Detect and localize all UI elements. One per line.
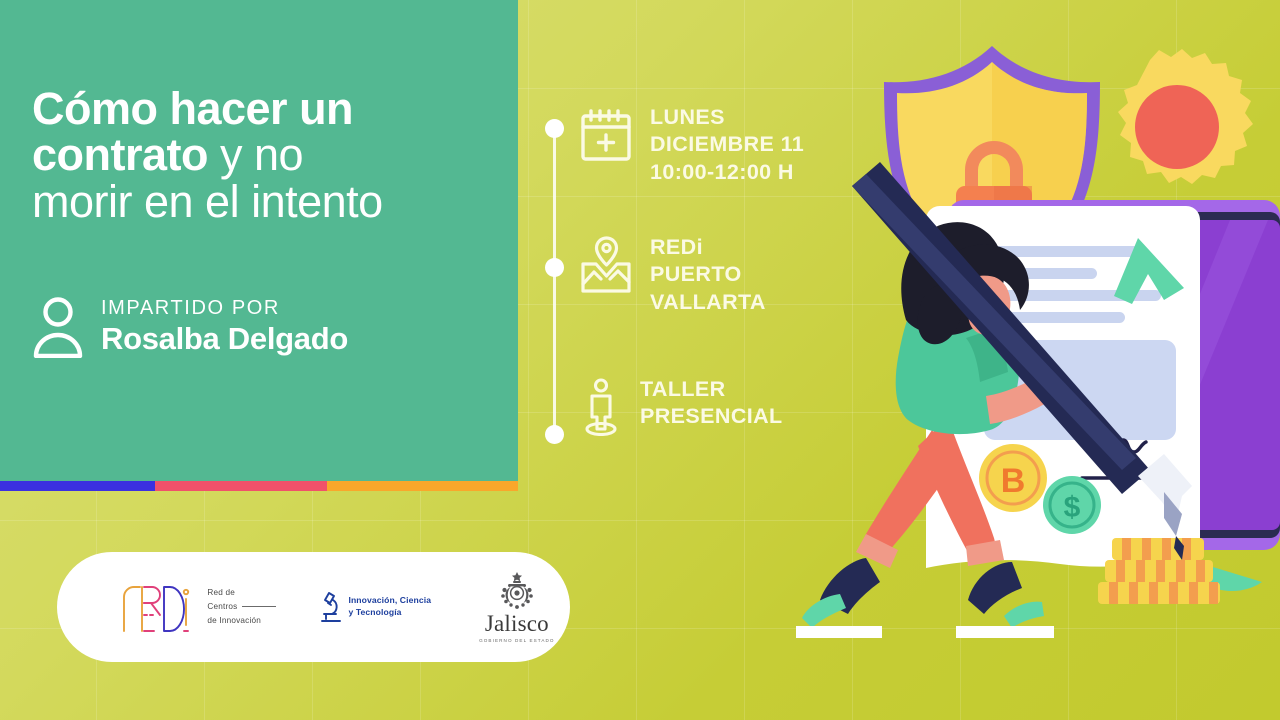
jalisco-subtitle: GOBIERNO DEL ESTADO — [479, 638, 555, 643]
title-line-2-rest: y no — [208, 129, 303, 180]
ict-line-2: y Tecnología — [348, 607, 431, 619]
detail-row-modality: TALLER PRESENCIAL — [580, 376, 783, 436]
bitcoin-coin: B — [979, 444, 1047, 512]
ict-wordmark: Innovación, Ciencia y Tecnología — [348, 595, 431, 618]
redi-logo: Red de Centros de Innovación — [120, 581, 276, 633]
redi-tagline-line-1: Red de — [207, 587, 276, 599]
title-line-2: contrato y no — [32, 132, 502, 178]
title-line-3: morir en el intento — [32, 179, 502, 225]
stripe-segment-orange — [327, 481, 518, 491]
map-location-icon — [580, 236, 632, 294]
person-standing-icon — [580, 378, 622, 436]
svg-text:$: $ — [1064, 491, 1081, 524]
detail-text-location: REDi PUERTO VALLARTA — [650, 234, 766, 316]
speaker-text: IMPARTIDO POR Rosalba Delgado — [101, 297, 348, 357]
redi-tagline-line-2: Centros — [207, 601, 237, 613]
redi-tagline-line-2-wrap: Centros — [207, 601, 276, 613]
contract-signing-illustration: B $ — [760, 0, 1280, 720]
redi-rule — [242, 606, 276, 607]
title-block: Cómo hacer un contrato y no morir en el … — [32, 86, 502, 225]
timeline-dot-1 — [545, 119, 564, 138]
accent-stripe — [0, 481, 518, 491]
timeline-dot-3 — [545, 425, 564, 444]
dollar-coin: $ — [1043, 476, 1101, 534]
speaker-block: IMPARTIDO POR Rosalba Delgado — [32, 296, 348, 358]
person-icon — [32, 296, 84, 358]
location-line-2: PUERTO — [650, 261, 766, 288]
poster-canvas: Cómo hacer un contrato y no morir en el … — [0, 0, 1280, 720]
ict-line-1: Innovación, Ciencia — [348, 595, 431, 607]
ict-logo: Innovación, Ciencia y Tecnología — [320, 590, 431, 624]
svg-text:B: B — [1001, 462, 1026, 500]
redi-logo-mark — [120, 581, 198, 633]
title-keyword: contrato — [32, 129, 208, 180]
jalisco-wordmark: Jalisco — [485, 612, 549, 635]
title-panel: Cómo hacer un contrato y no morir en el … — [0, 0, 518, 481]
timeline-dot-2 — [545, 258, 564, 277]
detail-row-location: REDi PUERTO VALLARTA — [580, 234, 766, 316]
microscope-icon — [320, 590, 342, 624]
speaker-label: IMPARTIDO POR — [101, 297, 348, 320]
location-line-1: REDi — [650, 234, 766, 261]
stripe-segment-blue — [0, 481, 155, 491]
calendar-plus-icon — [580, 106, 632, 164]
sponsor-logo-bar: Red de Centros de Innovación Innovación,… — [57, 552, 570, 662]
location-line-3: VALLARTA — [650, 289, 766, 316]
jalisco-coat-of-arms — [495, 571, 539, 611]
title-line-1: Cómo hacer un — [32, 86, 502, 132]
jalisco-logo: Jalisco GOBIERNO DEL ESTADO — [479, 571, 555, 643]
timeline-rail — [553, 128, 556, 440]
speaker-name: Rosalba Delgado — [101, 321, 348, 357]
redi-tagline-line-3: de Innovación — [207, 615, 276, 627]
stripe-segment-pink — [155, 481, 327, 491]
redi-tagline: Red de Centros de Innovación — [207, 587, 276, 627]
